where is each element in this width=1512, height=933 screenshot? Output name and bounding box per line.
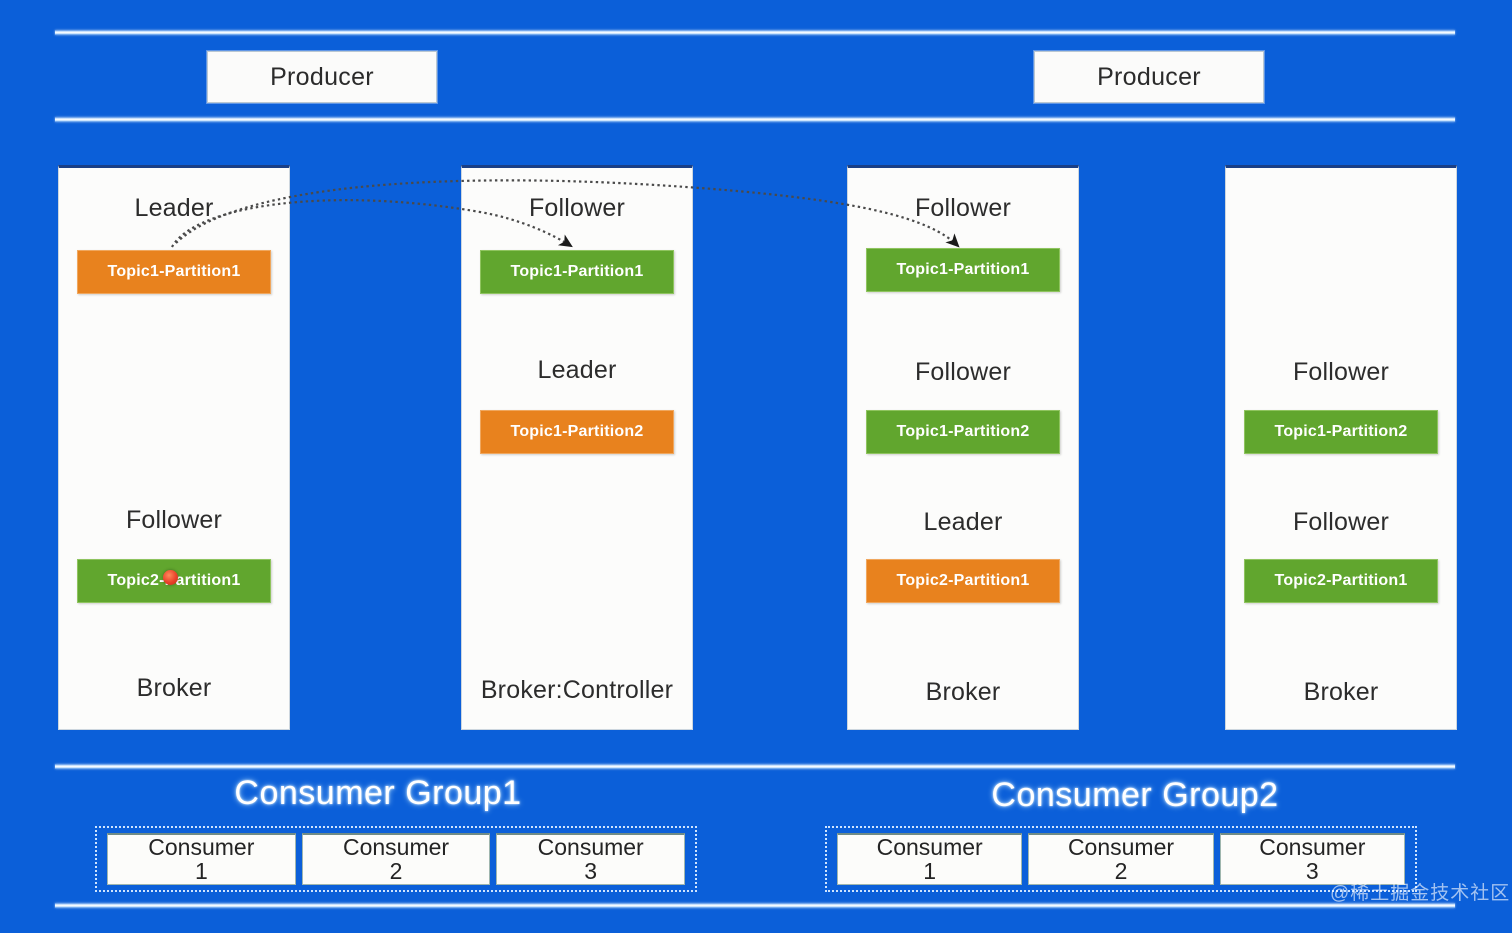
broker-3-partition-1[interactable]: Topic1-Partition1 [866,248,1060,292]
broker-1-footer: Broker [59,674,289,703]
broker-4-footer: Broker [1226,678,1456,707]
watermark: @稀土掘金技术社区 [1330,878,1510,905]
consumer-label: Consumer [148,836,254,859]
consumer-number: 3 [584,860,597,883]
consumer-number: 1 [195,860,208,883]
consumer-number: 2 [1115,860,1128,883]
broker-1-partition-1[interactable]: Topic1-Partition1 [77,250,271,294]
consumer-group-2-title: Consumer Group2 [815,776,1455,815]
broker-3-role-2: Follower [848,358,1078,387]
broker-1-role-2: Follower [59,506,289,535]
broker-3-role-3: Leader [848,508,1078,537]
broker-3-partition-2[interactable]: Topic1-Partition2 [866,410,1060,454]
consumer-label: Consumer [1068,836,1174,859]
divider-brokers-consumers [55,764,1455,769]
consumer-group-1-title: Consumer Group1 [58,774,698,813]
consumer-group-2-box: Consumer 1 Consumer 2 Consumer 3 [825,826,1417,892]
producer-label: Producer [1097,63,1201,92]
broker-2-partition-2[interactable]: Topic1-Partition2 [480,410,674,454]
consumer-2-1[interactable]: Consumer 1 [837,833,1022,885]
broker-4-partition-2[interactable]: Topic2-Partition1 [1244,559,1438,603]
consumer-1-1[interactable]: Consumer 1 [107,833,296,885]
consumer-label: Consumer [877,836,983,859]
broker-column-3[interactable]: Follower Topic1-Partition1 Follower Topi… [847,165,1079,730]
divider-producer-brokers [55,117,1455,122]
producer-label: Producer [270,63,374,92]
broker-1-role-1: Leader [59,194,289,223]
consumer-number: 2 [390,860,403,883]
broker-3-role-1: Follower [848,194,1078,223]
consumer-1-3[interactable]: Consumer 3 [496,833,685,885]
broker-4-role-2: Follower [1226,508,1456,537]
consumer-label: Consumer [1259,836,1365,859]
consumer-label: Consumer [343,836,449,859]
consumer-number: 1 [923,860,936,883]
divider-top [55,30,1455,35]
producer-box-2[interactable]: Producer [1034,51,1264,103]
broker-2-footer: Broker:Controller [462,676,692,705]
broker-column-2[interactable]: Follower Topic1-Partition1 Leader Topic1… [461,165,693,730]
consumer-group-1-box: Consumer 1 Consumer 2 Consumer 3 [95,826,697,892]
consumer-label: Consumer [538,836,644,859]
consumer-number: 3 [1306,860,1319,883]
consumer-1-2[interactable]: Consumer 2 [302,833,491,885]
divider-bottom [55,903,1455,908]
broker-column-1[interactable]: Leader Topic1-Partition1 Follower Topic2… [58,165,290,730]
mouse-cursor-dot [163,570,178,585]
broker-4-role-1: Follower [1226,358,1456,387]
consumer-2-2[interactable]: Consumer 2 [1028,833,1213,885]
broker-2-role-2: Leader [462,356,692,385]
kafka-architecture-diagram: Producer Producer Leader Topic1-Partitio… [0,0,1512,933]
broker-column-4[interactable]: Follower Topic1-Partition2 Follower Topi… [1225,165,1457,730]
broker-2-partition-1[interactable]: Topic1-Partition1 [480,250,674,294]
producer-box-1[interactable]: Producer [207,51,437,103]
broker-3-footer: Broker [848,678,1078,707]
broker-4-partition-1[interactable]: Topic1-Partition2 [1244,410,1438,454]
broker-3-partition-3[interactable]: Topic2-Partition1 [866,559,1060,603]
broker-2-role-1: Follower [462,194,692,223]
